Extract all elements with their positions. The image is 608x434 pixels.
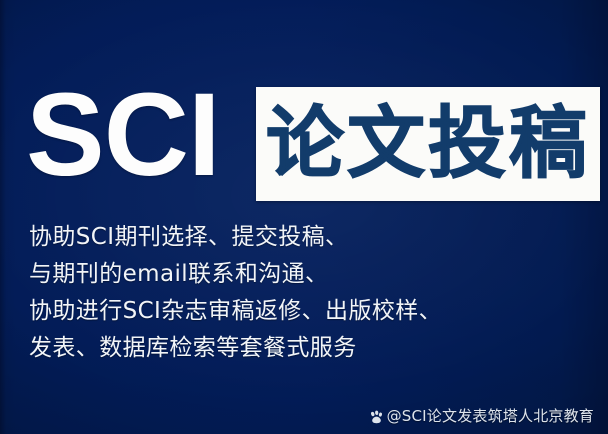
poster-background: [0, 0, 608, 434]
copy-line: 与期刊的email联系和沟通、: [29, 256, 589, 293]
paw-icon: [369, 410, 384, 425]
page-title: 论文投稿: [256, 102, 600, 186]
poster: SCI 论文投稿 协助SCI期刊选择、提交投稿、 与期刊的email联系和沟通、…: [0, 0, 608, 434]
copy-line: 协助SCI期刊选择、提交投稿、: [29, 219, 589, 256]
copy-line: 协助进行SCI杂志审稿返修、出版校样、: [29, 293, 589, 330]
watermark: @SCI论文发表筑塔人北京教育: [369, 408, 594, 425]
service-description: 协助SCI期刊选择、提交投稿、 与期刊的email联系和沟通、 协助进行SCI杂…: [29, 219, 589, 367]
brand-wordmark-sci: SCI: [26, 76, 220, 194]
headline-row: SCI 论文投稿: [0, 84, 608, 202]
watermark-text: @SCI论文发表筑塔人北京教育: [387, 408, 594, 425]
title-plate: 论文投稿: [256, 87, 600, 201]
copy-line: 发表、数据库检索等套餐式服务: [29, 330, 589, 367]
